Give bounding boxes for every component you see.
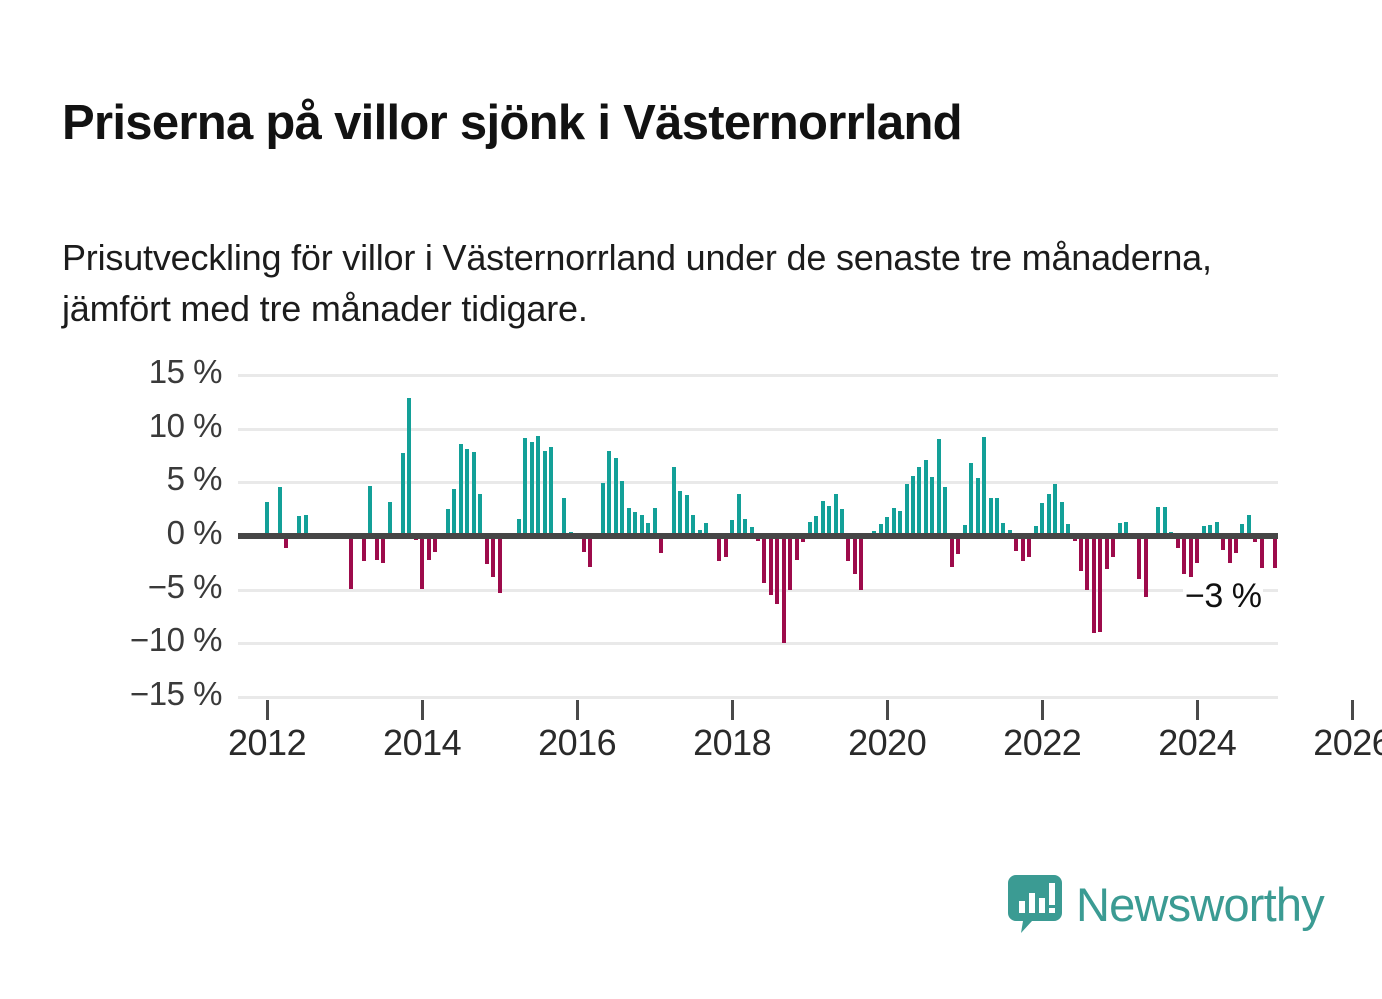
chart-bar	[1215, 522, 1219, 536]
chart-bar	[840, 509, 844, 536]
chart-bar	[1066, 524, 1070, 536]
chart-bar	[969, 463, 973, 536]
chart-bar	[1014, 536, 1018, 551]
chart-bar	[691, 515, 695, 536]
chart-bar	[743, 519, 747, 536]
y-axis-tick-label: 10 %	[62, 407, 222, 445]
chart-bar	[1098, 536, 1102, 632]
chart-bar	[976, 478, 980, 536]
x-axis-tick-mark	[421, 700, 424, 720]
x-axis-tick-label: 2012	[197, 722, 337, 764]
chart-bar	[517, 519, 521, 536]
y-axis-tick-label: −5 %	[62, 568, 222, 606]
chart-bar	[678, 491, 682, 536]
chart-bar	[304, 515, 308, 536]
chart-bar	[711, 536, 715, 539]
x-axis-tick-mark	[1196, 700, 1199, 720]
chart-bar	[1208, 525, 1212, 536]
chart-bar	[607, 451, 611, 536]
chart-bar	[368, 486, 372, 536]
chart-bar	[1001, 523, 1005, 536]
x-axis-tick-label: 2024	[1127, 722, 1267, 764]
newsworthy-logo: Newsworthy	[1008, 875, 1324, 933]
chart-bar	[420, 536, 424, 589]
page-title: Priserna på villor sjönk i Västernorrlan…	[62, 95, 1332, 151]
x-axis-tick-label: 2014	[352, 722, 492, 764]
chart-bar	[937, 439, 941, 536]
chart-bar	[284, 536, 288, 548]
chart-bar	[859, 536, 863, 590]
chart-bar	[685, 495, 689, 536]
chart-bar	[1060, 502, 1064, 536]
chart-bar	[885, 517, 889, 536]
chart-bar	[1021, 536, 1025, 561]
chart-bar	[827, 506, 831, 536]
chart-bar	[427, 536, 431, 560]
chart-bar	[1079, 536, 1083, 571]
chart-bar	[278, 487, 282, 536]
gridline	[238, 428, 1278, 431]
y-axis-tick-label: 0 %	[62, 514, 222, 552]
chart-bar	[737, 494, 741, 536]
chart-bar	[407, 398, 411, 536]
x-axis-tick-label: 2018	[662, 722, 802, 764]
chart-bar	[1234, 536, 1238, 553]
chart-bar	[381, 536, 385, 563]
x-axis-tick-mark	[576, 700, 579, 720]
chart-bar	[414, 536, 418, 540]
chart-bar	[1221, 536, 1225, 550]
chart-bar	[943, 487, 947, 536]
chart-bar	[1163, 507, 1167, 536]
chart-bar	[1118, 523, 1122, 536]
x-axis-tick-mark	[886, 700, 889, 720]
chart-bar	[498, 536, 502, 593]
gridline	[238, 374, 1278, 377]
chart-bar	[834, 494, 838, 536]
gridline	[238, 696, 1278, 699]
x-axis-tick-mark	[1351, 700, 1354, 720]
chart-bar	[1124, 522, 1128, 536]
chart-bar	[388, 502, 392, 536]
chart-bar	[801, 536, 805, 542]
x-axis-tick-label: 2026	[1282, 722, 1382, 764]
chart-bar	[730, 520, 734, 536]
chart-bar	[846, 536, 850, 561]
chart-bar	[1105, 536, 1109, 569]
chart-bar	[866, 535, 870, 537]
chart-bar	[265, 502, 269, 536]
chart-bar	[782, 536, 786, 643]
chart-bar	[653, 508, 657, 536]
chart-bar	[795, 536, 799, 560]
chart-bar	[704, 523, 708, 536]
chart-bar	[659, 536, 663, 553]
chart-bar	[1027, 536, 1031, 557]
chart-bar	[627, 508, 631, 536]
chart-bar	[982, 437, 986, 536]
chart-bar	[750, 527, 754, 536]
chart-bar	[1111, 536, 1115, 557]
x-axis-tick-label: 2022	[972, 722, 1112, 764]
x-axis: 20122014201620182020202220242026	[238, 700, 1278, 780]
y-axis-tick-label: 15 %	[62, 353, 222, 391]
chart-bar	[917, 467, 921, 536]
chart-bar	[1034, 526, 1038, 536]
chart-bar	[485, 536, 489, 564]
chart-bar	[762, 536, 766, 583]
chart-bar	[1008, 530, 1012, 536]
chart-bar	[588, 536, 592, 567]
y-axis-tick-label: −10 %	[62, 621, 222, 659]
chart-bar	[1073, 536, 1077, 541]
x-axis-tick-mark	[266, 700, 269, 720]
chart-bar	[898, 511, 902, 536]
chart-bar	[459, 444, 463, 536]
chart-bar	[640, 515, 644, 536]
chart-bar	[775, 536, 779, 604]
chart-bar	[452, 489, 456, 536]
chart-bar	[297, 516, 301, 536]
chart-bar	[1195, 536, 1199, 563]
chart-bar	[401, 453, 405, 536]
chart-bar	[1169, 532, 1173, 536]
zero-line	[238, 533, 1278, 539]
chart-bar	[362, 536, 366, 561]
chart-bar	[1092, 536, 1096, 633]
chart-bar	[950, 536, 954, 567]
chart-bar	[562, 498, 566, 536]
x-axis-tick-label: 2020	[817, 722, 957, 764]
chart-bar	[1053, 484, 1057, 536]
chart-bar	[1085, 536, 1089, 590]
chart-bar	[620, 481, 624, 536]
chart-plot-area	[238, 375, 1278, 697]
chart-bar	[905, 484, 909, 536]
chart-bar	[963, 525, 967, 536]
chart-bar	[769, 536, 773, 595]
bar-chart-speech-bubble-icon	[1008, 875, 1062, 933]
chart-bar	[646, 523, 650, 536]
chart-bar	[1137, 536, 1141, 579]
chart-bar	[1144, 536, 1148, 597]
chart-bar	[1150, 533, 1154, 536]
x-axis-tick-mark	[1041, 700, 1044, 720]
chart-bar	[633, 512, 637, 536]
chart-bar	[1202, 526, 1206, 536]
chart-bar	[1176, 536, 1180, 548]
chart-bar	[1047, 494, 1051, 536]
gridline	[238, 589, 1278, 592]
chart-bar	[1228, 536, 1232, 563]
chart-bar	[1260, 536, 1264, 568]
chart-bar	[672, 467, 676, 536]
chart-bar	[491, 536, 495, 577]
chart-bar	[569, 532, 573, 536]
chart-bar	[930, 477, 934, 536]
chart-bar	[478, 494, 482, 536]
chart-bar	[601, 483, 605, 536]
x-axis-tick-label: 2016	[507, 722, 647, 764]
chart-bar	[892, 508, 896, 536]
last-value-annotation: −3 %	[1183, 577, 1263, 616]
chart-bar	[956, 536, 960, 554]
chart-bar	[788, 536, 792, 590]
chart-bar	[1131, 533, 1135, 536]
chart-bar	[465, 449, 469, 536]
chart-bar	[549, 447, 553, 536]
chart-bar	[1189, 536, 1193, 583]
chart-bar	[995, 498, 999, 536]
page-subtitle: Prisutveckling för villor i Västernorrla…	[62, 232, 1312, 334]
chart-bar	[523, 438, 527, 536]
y-axis-tick-label: 5 %	[62, 460, 222, 498]
chart-bar	[1040, 503, 1044, 536]
chart-bar	[853, 536, 857, 574]
chart-bar	[349, 536, 353, 589]
gridline	[238, 642, 1278, 645]
chart-bar	[879, 524, 883, 536]
chart-bar	[1273, 536, 1277, 568]
chart-bar	[433, 536, 437, 552]
chart-bar	[756, 536, 760, 541]
chart-bar	[614, 458, 618, 536]
chart-bar	[1156, 507, 1160, 536]
chart-bar	[582, 536, 586, 552]
chart-bar	[530, 442, 534, 536]
gridline	[238, 481, 1278, 484]
x-axis-tick-mark	[731, 700, 734, 720]
chart-bar	[821, 501, 825, 536]
chart-bar	[472, 452, 476, 536]
chart-bar	[872, 531, 876, 536]
chart-bar	[1240, 524, 1244, 536]
chart-bar	[989, 498, 993, 536]
chart-bar	[698, 530, 702, 536]
chart-bar	[1253, 536, 1257, 542]
chart-bar	[724, 536, 728, 557]
chart-bar	[814, 516, 818, 536]
chart-bar	[808, 522, 812, 536]
chart-bar	[924, 460, 928, 536]
chart-bar	[1182, 536, 1186, 574]
chart-bar	[543, 451, 547, 536]
chart-bar	[717, 536, 721, 561]
y-axis-tick-label: −15 %	[62, 675, 222, 713]
chart-bar	[911, 476, 915, 536]
logo-text: Newsworthy	[1076, 881, 1324, 928]
chart-bar	[1247, 515, 1251, 536]
chart-bar	[536, 436, 540, 536]
chart-bar	[375, 536, 379, 560]
chart-bar	[575, 536, 579, 539]
chart-bar	[446, 509, 450, 536]
